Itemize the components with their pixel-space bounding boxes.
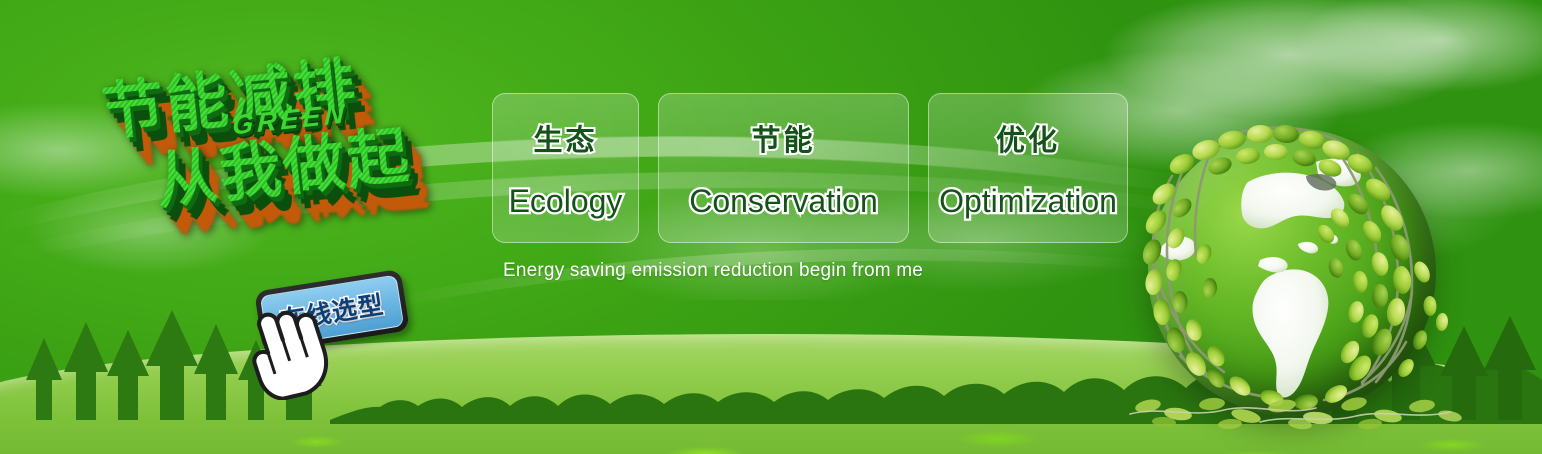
online-selection-button-face[interactable]: 在线选型 (260, 275, 404, 348)
online-selection-button[interactable]: 在线选型 (254, 269, 410, 353)
feature-card-ecology-cn: 生态 (533, 117, 597, 159)
feature-card-ecology-en: Ecology (509, 183, 623, 220)
online-selection-button-label: 在线选型 (278, 285, 386, 337)
feature-card-optimization-en: Optimization (939, 183, 1117, 220)
feature-card-conservation-cn: 节能 (751, 117, 815, 159)
globe-sphere (1148, 128, 1436, 416)
promo-banner: 节能减排 GREEN 从我做起 在线选型 生态 Ecology 节能 Conse… (0, 0, 1542, 454)
feature-card-conservation[interactable]: 节能 Conservation (658, 93, 909, 243)
feature-card-optimization-cn: 优化 (996, 117, 1060, 159)
feature-card-list: 生态 Ecology 节能 Conservation 优化 Optimizati… (492, 93, 1128, 243)
feature-card-optimization[interactable]: 优化 Optimization (928, 93, 1128, 243)
leafy-earth-globe-icon (1148, 128, 1436, 416)
feature-card-ecology[interactable]: 生态 Ecology (492, 93, 639, 243)
tagline: Energy saving emission reduction begin f… (503, 260, 923, 282)
globe-continents (1148, 128, 1436, 416)
feature-card-conservation-en: Conservation (689, 183, 878, 220)
headline-3d: 节能减排 GREEN 从我做起 (85, 22, 507, 293)
